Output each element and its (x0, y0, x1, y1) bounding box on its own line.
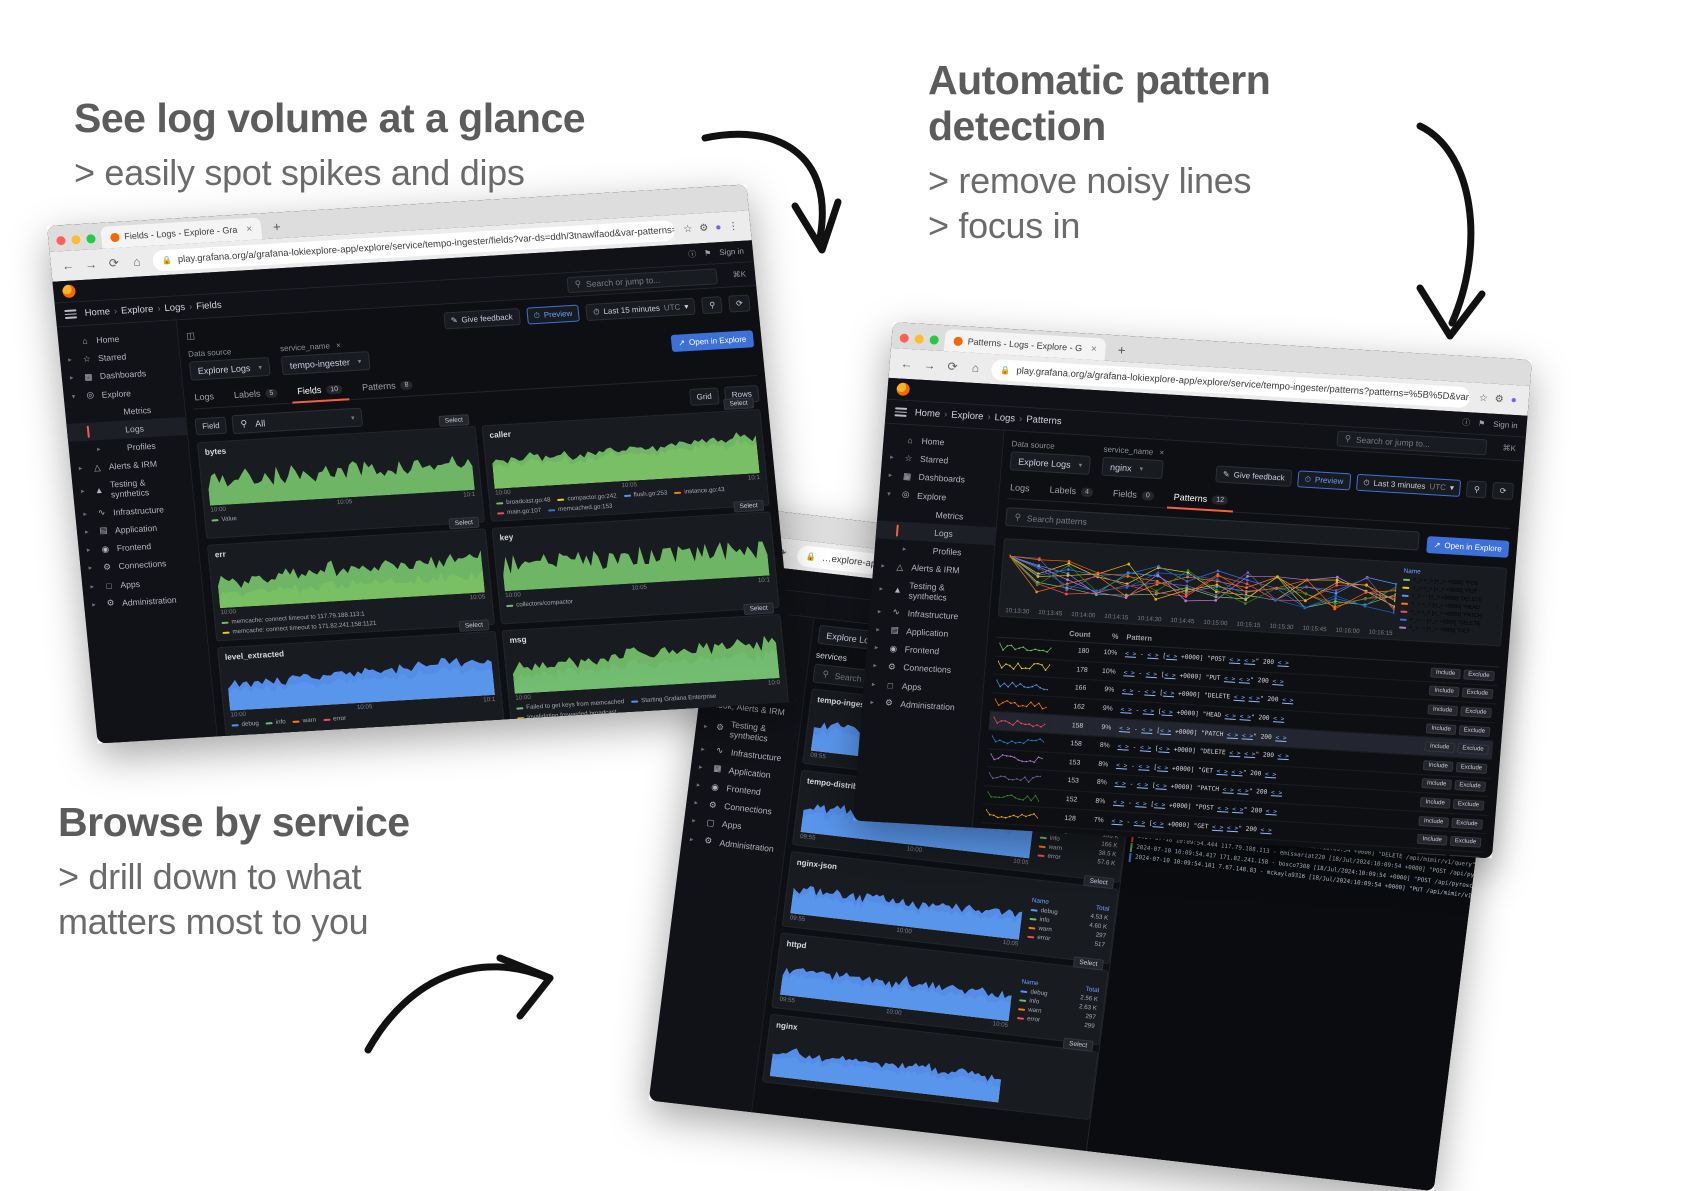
preview-badge: ⏱ Preview (1297, 470, 1351, 490)
exclude-button[interactable]: Exclude (1463, 669, 1495, 681)
breadcrumb-explore[interactable]: Explore (121, 304, 154, 317)
gear-icon: ⚙ (105, 598, 117, 610)
legend-label: compactor.go:242 (567, 492, 617, 502)
legend-item[interactable]: broadcast.go:48 (496, 496, 551, 506)
tab-label: Fields (297, 385, 322, 396)
sidebar-item-label: Application (115, 523, 158, 535)
datasource-value: Explore Logs (197, 363, 250, 376)
patterns-table: Count % Pattern 18010%<_> - <_> [<_> +00… (978, 622, 1500, 859)
axis-tick: 10:1 (758, 576, 771, 584)
news-icon[interactable]: ⚑ (704, 249, 712, 258)
menu-icon[interactable] (894, 407, 907, 416)
bookmark-star-icon[interactable]: ☆ (683, 223, 693, 234)
include-button[interactable]: Include (1428, 704, 1458, 716)
include-button[interactable]: Include (1429, 686, 1459, 698)
grafana-favicon-icon (110, 232, 120, 241)
tab-label: Fields (1113, 488, 1138, 499)
service-filter-field: service_name × nginx ▾ (1101, 445, 1164, 480)
legend-total: 2.56 K (1080, 994, 1099, 1003)
infra-icon: ∿ (714, 745, 726, 757)
zoom-out-button[interactable]: ⚲ (1466, 480, 1487, 498)
select-button[interactable]: Select (1062, 1038, 1093, 1052)
legend-item[interactable]: memcached.go:153 (548, 503, 613, 514)
row-count: 178 (1053, 659, 1092, 680)
sidebar-item-label: Administration (719, 837, 774, 853)
legend-swatch (1402, 587, 1409, 589)
callout-log-volume: See log volume at a glance > easily spot… (74, 96, 585, 195)
lock-icon: 🔒 (806, 551, 817, 561)
timezone-label: UTC (1429, 482, 1446, 492)
maximize-window-icon[interactable] (929, 335, 939, 345)
axis-tick: 10:14:00 (1071, 611, 1096, 619)
sidebar-item-label: Logs (125, 424, 145, 435)
extensions-icon[interactable]: ⚙ (1494, 393, 1504, 404)
row-percent: 7% (1079, 810, 1108, 830)
legend-label: warn (1048, 844, 1062, 852)
maximize-window-icon[interactable] (86, 234, 96, 243)
legend-item[interactable]: collectors/compactor (506, 598, 573, 609)
breadcrumb[interactable]: Home›Explore›Logs›Fields (84, 300, 222, 319)
include-button[interactable]: Include (1426, 723, 1456, 735)
legend-label: Invalidating forwarded broadcast (527, 709, 617, 721)
legend-label: broadcast.go:48 (506, 496, 551, 506)
back-icon[interactable]: ← (899, 356, 914, 371)
chevron-right-icon: ▸ (876, 625, 884, 633)
preview-icon: ⏱ (533, 310, 540, 320)
sidebar-item-label: Home (921, 436, 945, 447)
row-percent: 9% (1086, 717, 1115, 737)
legend-swatch (624, 494, 631, 496)
legend-item[interactable]: Value (211, 515, 237, 523)
time-range-picker[interactable]: ⏱ Last 15 minutes UTC ▾ (585, 298, 696, 321)
field-panel: key10:0010:0510:1collectors/compactorSel… (492, 511, 780, 624)
row-count: 162 (1050, 696, 1089, 717)
dashboard-icon: ▦ (901, 471, 913, 483)
sidebar-item-label: Metrics (935, 510, 963, 522)
sidebar-item-label: Testing & synthetics (908, 580, 983, 604)
tab-labels[interactable]: Labels4 (1047, 480, 1096, 503)
chevron-right-icon: ▸ (870, 698, 878, 706)
exclude-button[interactable]: Exclude (1449, 836, 1481, 848)
chevron-right-icon: ▸ (701, 745, 709, 754)
legend-list: <_> <_> [<_> +0000] "POS<_> <_> [<_> +00… (1399, 577, 1499, 637)
exclude-button[interactable]: Exclude (1460, 706, 1492, 718)
axis-tick: 10:05 (621, 481, 637, 489)
select-button[interactable]: Select (468, 722, 499, 735)
row-percent: 9% (1089, 680, 1118, 700)
home-icon[interactable]: ⌂ (968, 361, 983, 376)
exclude-button[interactable]: Exclude (1451, 817, 1483, 829)
tab-fields[interactable]: Fields0 (1110, 484, 1156, 507)
legend-total: 57.6 K (1097, 858, 1116, 867)
include-button[interactable]: Include (1417, 834, 1447, 846)
legend-label: flush.go:253 (633, 489, 667, 498)
legend-swatch (1401, 603, 1408, 605)
chevron-down-icon: ▾ (684, 302, 689, 311)
flask-icon: ▲ (93, 484, 105, 496)
field-filter-label: Field (194, 417, 227, 436)
service-select[interactable]: nginx ▾ (1101, 457, 1163, 480)
legend-item[interactable]: main.go:107 (497, 507, 542, 517)
sign-in-link[interactable]: Sign in (1493, 420, 1518, 430)
sidebar-item-label: Frontend (116, 541, 151, 553)
legend-label: Value (221, 515, 237, 523)
tab-label: Patterns (1173, 492, 1207, 504)
chevron-down-icon: ▾ (887, 490, 895, 498)
select-button[interactable]: Select (438, 414, 469, 427)
legend-label: info (1029, 997, 1040, 1005)
frontend-icon: ◉ (99, 543, 111, 555)
collapse-panel-icon[interactable]: ◫ (186, 330, 196, 341)
datasource-select[interactable]: Explore Logs ▾ (189, 357, 271, 381)
open-in-explore-button[interactable]: ↗ Open in Explore (671, 330, 755, 352)
extensions-icon[interactable]: ⚙ (699, 222, 709, 233)
legend-item[interactable]: warn (292, 717, 316, 725)
legend-item[interactable]: instance.go:43 (674, 486, 725, 496)
legend-swatch (1039, 845, 1046, 848)
datasource-select[interactable]: Explore Logs ▾ (1009, 451, 1090, 475)
breadcrumb-home[interactable]: Home (914, 407, 940, 419)
breadcrumb-patterns: Patterns (1026, 414, 1062, 427)
legend-swatch (548, 509, 555, 511)
refresh-button[interactable]: ⟳ (1492, 482, 1514, 500)
tab-labels[interactable]: Labels5 (231, 383, 280, 406)
legend-swatch (557, 498, 564, 500)
external-link-icon: ↗ (678, 338, 686, 347)
legend-item[interactable]: compactor.go:242 (557, 492, 617, 502)
plug-icon: ⚙ (886, 661, 898, 673)
dashboard-icon: ▦ (82, 371, 94, 383)
legend-swatch (1403, 579, 1410, 581)
time-range-label: Last 3 minutes (1373, 479, 1426, 491)
remove-filter-icon[interactable]: × (1159, 448, 1164, 457)
legend-label: info (1039, 916, 1050, 924)
include-button[interactable]: Include (1420, 797, 1450, 809)
axis-tick: 10:00 (886, 1008, 902, 1017)
chevron-right-icon: ▸ (689, 835, 697, 844)
timezone-label: UTC (663, 303, 680, 313)
news-icon[interactable]: ⚑ (1478, 419, 1486, 428)
search-icon: ⚲ (822, 668, 830, 680)
datasource-field: Data source Explore Logs ▾ (188, 345, 271, 381)
compass-icon: ◎ (900, 489, 912, 501)
row-percent: 10% (1092, 643, 1121, 663)
bookmark-star-icon[interactable]: ☆ (1478, 392, 1488, 403)
chevron-down-icon: ▾ (1450, 483, 1455, 492)
time-range-picker[interactable]: ⏱ Last 3 minutes UTC ▾ (1356, 474, 1462, 497)
select-button[interactable]: Select (458, 619, 489, 632)
tab-badge: 10 (326, 384, 343, 394)
give-feedback-label: Give feedback (461, 312, 513, 324)
layout-grid-button[interactable]: Grid (689, 387, 720, 406)
bell-icon: △ (91, 462, 103, 474)
select-button[interactable]: Select (1073, 956, 1104, 970)
legend-total: 38.5 K (1098, 849, 1117, 858)
axis-tick: 10:15:30 (1269, 623, 1294, 631)
legend-swatch (496, 502, 503, 504)
chevron-right-icon: ▸ (92, 600, 100, 608)
arrow-icon-browse (360, 950, 560, 1060)
row-count: 158 (1049, 715, 1088, 736)
star-icon: ☆ (81, 353, 93, 365)
select-button[interactable]: Select (448, 517, 479, 530)
logs-icon (108, 424, 120, 436)
select-button[interactable]: Select (723, 397, 754, 410)
reload-icon[interactable]: ⟳ (945, 359, 960, 374)
callout-subtext: > drill down to what matters most to you (58, 854, 410, 944)
field-panel-grid: bytes10:0010:0510:1ValueSelectcaller10:0… (197, 409, 797, 744)
axis-tick: 10:00 (210, 506, 226, 514)
legend-item[interactable]: debug (231, 720, 259, 729)
legend-swatch (266, 722, 273, 724)
preview-label: Preview (543, 309, 572, 320)
tab-badge: 5 (265, 388, 278, 398)
axis-tick: 09:55 (779, 996, 795, 1005)
frontend-icon: ◉ (709, 781, 721, 793)
axis-tick: 10:14:15 (1104, 613, 1129, 621)
row-percent: 8% (1082, 773, 1111, 793)
legend-swatch (211, 519, 218, 521)
remove-filter-icon[interactable]: × (336, 341, 342, 350)
exclude-button[interactable]: Exclude (1454, 780, 1486, 792)
axis-tick: 10:00 (230, 711, 246, 719)
new-tab-button[interactable]: + (266, 219, 287, 239)
tab-fields[interactable]: Fields10 (294, 380, 345, 403)
clock-icon: ⏱ (1363, 478, 1370, 488)
legend-swatch (1400, 611, 1407, 613)
sidebar-item-label: Starred (98, 352, 127, 364)
tab-logs[interactable]: Logs (1007, 478, 1032, 499)
include-button[interactable]: Include (1423, 760, 1453, 772)
chevron-right-icon: ▸ (694, 799, 702, 808)
row-count: 128 (1041, 807, 1080, 828)
arrow-icon-pattern (1390, 118, 1510, 358)
legend-total: 299 (1084, 1022, 1095, 1030)
legend-label: Starting Grafana Enterprise (641, 693, 717, 704)
legend-total: 166 K (1101, 841, 1118, 850)
open-in-explore-label: Open in Explore (1444, 541, 1502, 553)
sidebar-item-label: Dashboards (918, 472, 965, 485)
breadcrumb-fields: Fields (196, 300, 222, 312)
include-button[interactable]: Include (1422, 778, 1452, 790)
legend-label: debug (1040, 907, 1058, 916)
sidebar-item-label: Testing & synthetics (729, 719, 792, 746)
include-button[interactable]: Include (1431, 667, 1461, 679)
sign-in-link[interactable]: Sign in (719, 247, 744, 257)
legend-label: info (1049, 835, 1060, 843)
legend-swatch (1402, 595, 1409, 597)
select-button[interactable]: Select (1083, 875, 1114, 889)
service-legend: NameTotaldebug4.53 Kinfo4.60 Kwarn297err… (1026, 897, 1110, 958)
sidebar-item-label: Explore (917, 490, 947, 502)
legend-label: error (1037, 934, 1051, 942)
exclude-button[interactable]: Exclude (1455, 762, 1487, 774)
keyboard-shortcut-hint: ⌘K (732, 270, 746, 280)
patterns-table-body: 18010%<_> - <_> [<_> +0000] "POST <_> <_… (978, 637, 1499, 858)
axis-tick: 10:05 (337, 498, 353, 506)
legend-swatch (1400, 619, 1407, 621)
service-label-text: service_name (1103, 445, 1153, 457)
window-traffic-lights[interactable] (56, 234, 96, 251)
field-filter-select[interactable]: ⚲ All ▾ (232, 408, 364, 435)
sidebar-item-label: Administration (122, 594, 177, 607)
axis-tick: 10:1 (483, 696, 496, 704)
callout-pattern-detection: Automatic pattern detection > remove noi… (928, 58, 1270, 248)
legend-label: info (275, 718, 286, 726)
menu-icon[interactable] (64, 309, 77, 318)
sidebar-item-label: Alerts & IRM (911, 563, 960, 576)
chevron-right-icon: ▸ (97, 445, 105, 453)
preview-icon: ⏱ (1304, 474, 1311, 484)
bell-icon: △ (894, 561, 906, 573)
axis-tick: 10:15:00 (1203, 619, 1228, 627)
legend-swatch (1018, 1008, 1025, 1011)
profile-avatar[interactable]: ● (715, 222, 722, 233)
breadcrumb-home[interactable]: Home (84, 306, 110, 318)
fields-main: ◫ ✎ Give feedback ⏱ Preview ⏱ (177, 286, 797, 744)
minimize-window-icon[interactable] (71, 235, 81, 244)
plug-icon: ⚙ (101, 561, 113, 573)
home-icon[interactable]: ⌂ (129, 254, 144, 269)
breadcrumb-logs[interactable]: Logs (994, 412, 1015, 424)
legend-item[interactable]: info (265, 718, 286, 726)
legend-item[interactable]: Starting Grafana Enterprise (631, 693, 717, 705)
breadcrumb[interactable]: Home›Explore›Logs›Patterns (914, 407, 1062, 427)
chevron-down-icon: ▾ (71, 392, 79, 400)
axis-tick: 10:13:45 (1038, 609, 1063, 617)
exclude-button[interactable]: Exclude (1452, 799, 1484, 811)
axis-tick: 10:14:30 (1137, 615, 1162, 623)
tab-logs[interactable]: Logs (192, 387, 217, 408)
reload-icon[interactable]: ⟳ (106, 256, 121, 271)
close-window-icon[interactable] (56, 236, 66, 245)
legend-swatch (674, 491, 681, 493)
legend-label: error (333, 715, 347, 723)
sidebar-item-label: Apps (721, 819, 742, 831)
axis-tick: 10:00 (906, 845, 922, 854)
legend-swatch (1028, 926, 1035, 929)
exclude-button[interactable]: Exclude (1458, 725, 1490, 737)
minimize-window-icon[interactable] (914, 334, 924, 344)
chevron-down-icon: ▾ (357, 357, 361, 365)
help-icon[interactable]: ⓘ (688, 249, 697, 260)
sidebar-item-label: Infrastructure (113, 504, 165, 517)
give-feedback-button[interactable]: ✎ Give feedback (1215, 465, 1292, 486)
column-percent[interactable]: % (1094, 627, 1123, 644)
row-count: 158 (1047, 733, 1086, 754)
row-count: 153 (1046, 752, 1085, 773)
legend-total: 2.63 K (1079, 1003, 1098, 1012)
sidebar-item-label: Infrastructure (730, 747, 782, 763)
select-button[interactable]: Select (743, 602, 774, 615)
zoom-out-button[interactable]: ⚲ (702, 296, 723, 314)
field-filter-value: All (255, 418, 266, 429)
axis-tick: 10:05 (631, 584, 647, 592)
poster-canvas: See log volume at a glance > easily spot… (0, 0, 1684, 1190)
search-icon: ⚲ (240, 418, 248, 429)
browser-menu-icon[interactable]: ⋮ (728, 220, 739, 232)
axis-tick: 10:05 (469, 593, 485, 601)
sidebar-item-label: Application (906, 626, 949, 638)
patterns-main: Data source Explore Logs ▾ service_name … (969, 431, 1523, 859)
service-legend (1006, 1060, 1089, 1114)
close-window-icon[interactable] (899, 333, 909, 343)
field-panel-title: oldVersion (235, 740, 501, 744)
axis-tick: 10:15:15 (1236, 621, 1261, 629)
preview-label: Preview (1315, 475, 1344, 486)
tab-badge: 0 (1142, 491, 1155, 501)
feedback-icon: ✎ (1223, 470, 1230, 479)
open-in-explore-button[interactable]: ↗ Open in Explore (1426, 536, 1509, 558)
close-icon[interactable]: × (1091, 343, 1098, 354)
infra-icon: ∿ (96, 507, 108, 519)
browser-tab-title: Patterns - Logs - Explore - G (967, 336, 1082, 353)
give-feedback-button[interactable]: ✎ Give feedback (443, 308, 520, 329)
legend-total: 297 (1095, 932, 1106, 940)
window-traffic-lights[interactable] (899, 333, 939, 350)
service-filter-field: service_name × tempo-ingester ▾ (280, 339, 370, 375)
legend-swatch (497, 512, 504, 514)
new-tab-button[interactable]: + (1111, 342, 1132, 362)
include-button[interactable]: Include (1425, 741, 1455, 753)
legend-swatch (516, 707, 523, 709)
sidebar-item-label: Explore (101, 388, 131, 400)
tab-label: Patterns (362, 381, 396, 393)
legend-label: error (1047, 853, 1061, 861)
breadcrumb-logs[interactable]: Logs (164, 302, 186, 314)
service-select[interactable]: tempo-ingester ▾ (281, 351, 370, 375)
sidebar-item-label: Frontend (726, 783, 761, 797)
forward-icon[interactable]: → (83, 257, 98, 272)
callout-heading: See log volume at a glance (74, 96, 585, 142)
logs-icon (917, 526, 929, 538)
external-link-icon: ↗ (1433, 540, 1440, 549)
legend-swatch (631, 700, 638, 702)
apps-icon: ▢ (704, 817, 716, 829)
tab-patterns[interactable]: Patterns12 (1171, 488, 1231, 511)
grafana-body: ⌂Home▸☆Starred▸▦Dashboards▾◎ExploreMetri… (853, 424, 1524, 859)
legend-swatch (221, 621, 228, 623)
breadcrumb-explore[interactable]: Explore (951, 410, 984, 423)
axis-tick: 10:16:15 (1368, 629, 1393, 637)
profile-avatar[interactable]: ● (1510, 394, 1517, 405)
legend-swatch (222, 631, 229, 633)
row-count: 153 (1044, 770, 1083, 791)
search-icon: ⚲ (574, 278, 581, 289)
legend-label: error (1027, 1015, 1041, 1023)
forward-icon[interactable]: → (922, 358, 937, 373)
axis-tick: 10:00 (896, 927, 912, 936)
back-icon[interactable]: ← (60, 258, 75, 273)
select-button[interactable]: Select (733, 500, 764, 513)
infra-icon: ∿ (890, 607, 902, 619)
exclude-button[interactable]: Exclude (1457, 743, 1489, 755)
legend-label: memcached.go:153 (558, 503, 613, 513)
exclude-button[interactable]: Exclude (1461, 688, 1493, 700)
refresh-button[interactable]: ⟳ (728, 294, 750, 312)
axis-tick: 10:05 (1013, 858, 1029, 867)
legend-header-total: Total (1085, 986, 1099, 994)
close-icon[interactable]: × (246, 223, 253, 234)
callout-subtext: > easily spot spikes and dips (74, 150, 585, 195)
legend-item[interactable]: flush.go:253 (623, 489, 667, 499)
legend-total: 4.53 K (1090, 913, 1109, 922)
tab-patterns[interactable]: Patterns8 (359, 375, 415, 398)
legend-item[interactable]: error (323, 715, 347, 723)
help-icon[interactable]: ⓘ (1462, 417, 1471, 428)
include-button[interactable]: Include (1419, 816, 1449, 828)
sidebar-item-label: Apps (120, 578, 141, 589)
